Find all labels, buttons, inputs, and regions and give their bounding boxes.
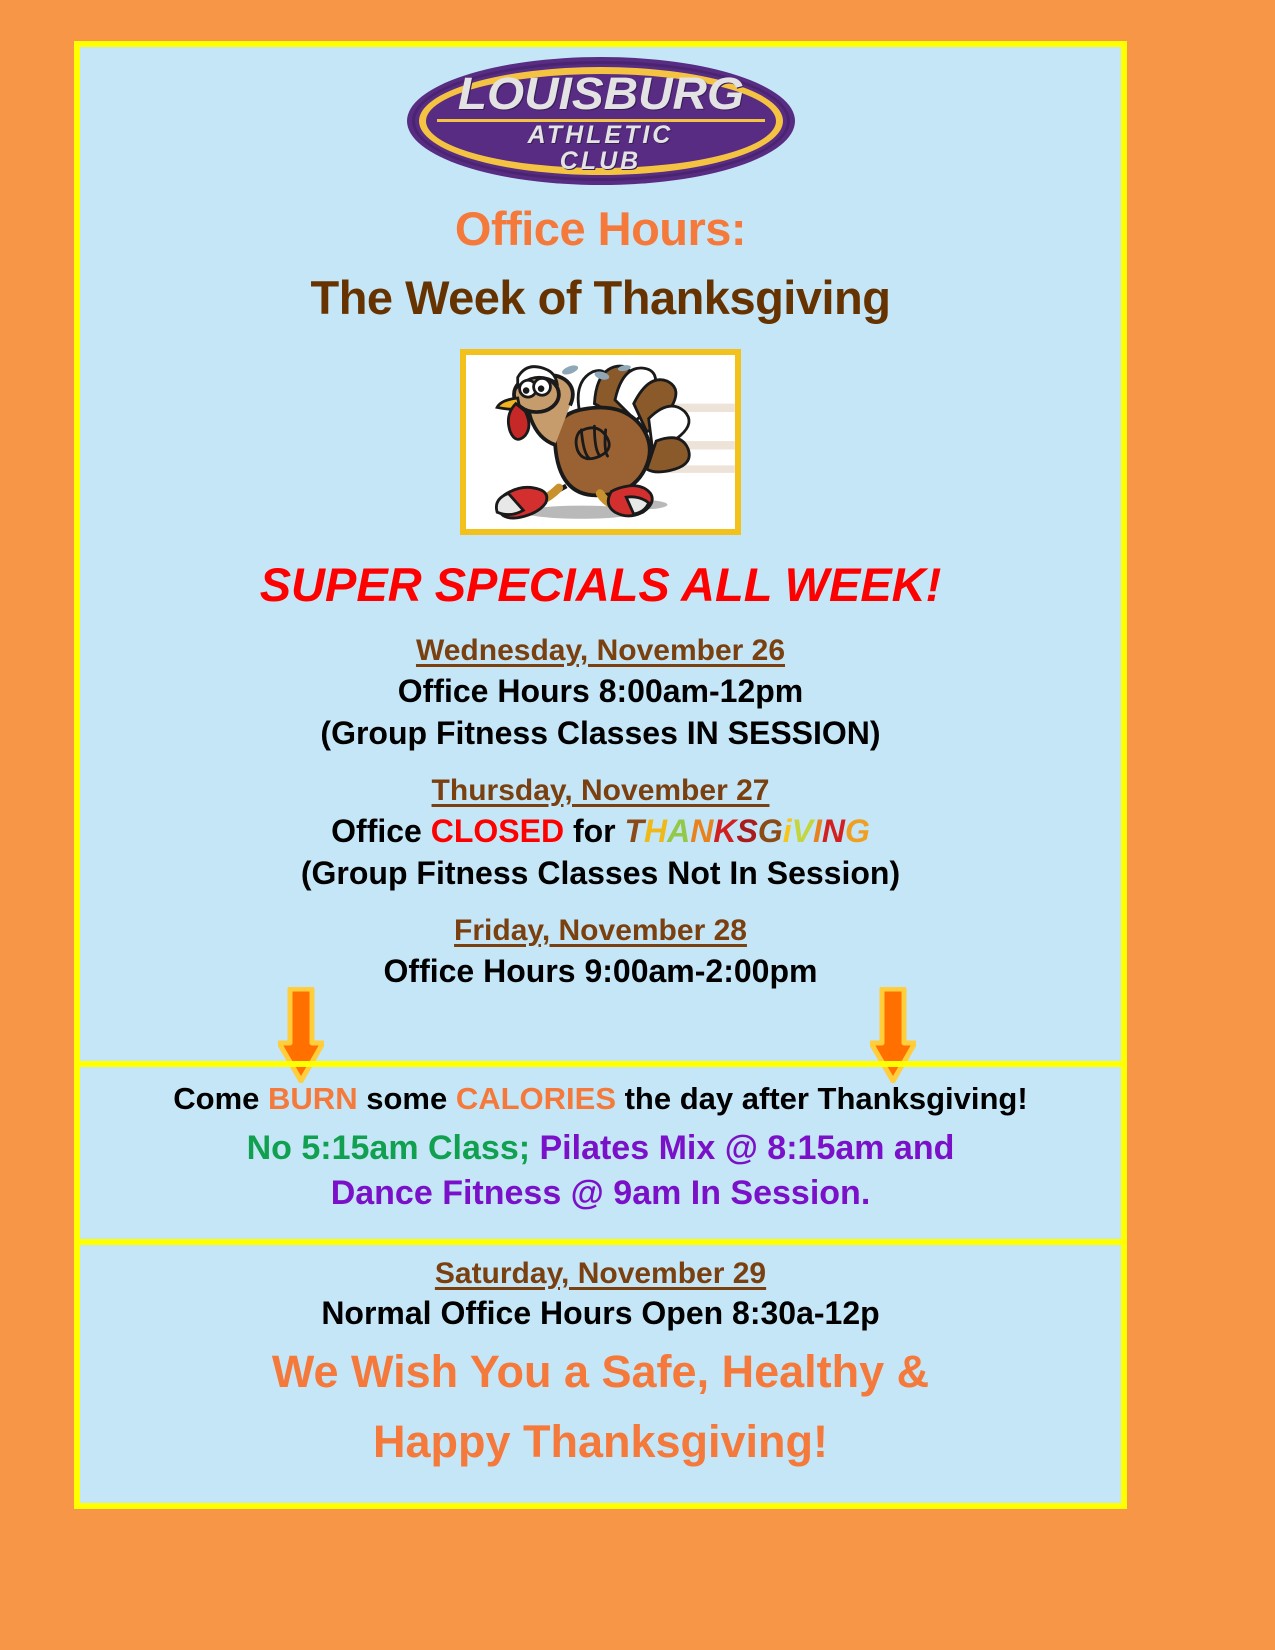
tg-letter-10: I (813, 813, 822, 849)
flyer-poster: LOUISBURG ATHLETIC CLUB Office Hours: Th… (74, 41, 1127, 1509)
poster-bottom-content: Saturday, November 29 Normal Office Hour… (80, 1257, 1121, 1468)
poster-top-content: LOUISBURG ATHLETIC CLUB Office Hours: Th… (80, 47, 1121, 990)
band-text-some: some (358, 1081, 456, 1116)
page-subtitle-week-of-thanksgiving: The Week of Thanksgiving (80, 270, 1121, 325)
louisburg-athletic-club-logo: LOUISBURG ATHLETIC CLUB (407, 57, 795, 185)
wednesday-office-hours: Office Hours 8:00am-12pm (80, 673, 1121, 710)
wednesday-classes-note: (Group Fitness Classes IN SESSION) (80, 715, 1121, 752)
closing-message-line-2: Happy Thanksgiving! (80, 1416, 1121, 1468)
page-title-office-hours: Office Hours: (80, 201, 1121, 256)
logo-text-athletic: ATHLETIC (528, 122, 674, 148)
tg-letter-7: G (758, 813, 783, 849)
tg-letter-12: G (845, 813, 870, 849)
friday-office-hours: Office Hours 9:00am-2:00pm (80, 953, 1121, 990)
thanksgiving-rainbow-word: THANKSGiVING (625, 813, 870, 849)
tg-letter-3: A (667, 813, 690, 849)
thursday-closed-word: CLOSED (431, 813, 564, 849)
logo-container: LOUISBURG ATHLETIC CLUB (80, 47, 1121, 195)
band-text-tail: the day after Thanksgiving! (616, 1081, 1028, 1116)
day-heading-saturday: Saturday, November 29 (80, 1257, 1121, 1291)
no-515am-class-text: No 5:15am Class; (247, 1129, 530, 1167)
band-text-come: Come (173, 1081, 268, 1116)
tg-letter-2: H (644, 813, 667, 849)
tg-letter-8: i (783, 813, 792, 849)
band-text-burn: BURN (268, 1081, 358, 1116)
thursday-office-word: Office (331, 813, 431, 849)
dance-fitness-text: Dance Fitness @ 9am In Session. (331, 1174, 871, 1212)
band-text-calories: CALORIES (456, 1081, 616, 1116)
running-turkey-cartoon (466, 355, 735, 529)
pilates-mix-text: Pilates Mix @ 8:15am and (530, 1129, 954, 1167)
friday-specials-band: Come BURN some CALORIES the day after Th… (74, 1061, 1127, 1245)
class-schedule-line-1: No 5:15am Class; Pilates Mix @ 8:15am an… (74, 1129, 1127, 1168)
day-heading-wednesday: Wednesday, November 26 (80, 634, 1121, 668)
logo-text-louisburg: LOUISBURG (457, 73, 743, 116)
tg-letter-9: V (792, 813, 813, 849)
super-specials-banner: SUPER SPECIALS ALL WEEK! (80, 557, 1121, 612)
saturday-office-hours: Normal Office Hours Open 8:30a-12p (80, 1295, 1121, 1332)
closing-message-line-1: We Wish You a Safe, Healthy & (80, 1346, 1121, 1398)
tg-letter-6: S (736, 813, 757, 849)
burn-calories-line: Come BURN some CALORIES the day after Th… (74, 1081, 1127, 1117)
running-turkey-image-frame (460, 349, 741, 535)
class-schedule-line-2: Dance Fitness @ 9am In Session. (74, 1174, 1127, 1213)
tg-letter-1: T (625, 813, 645, 849)
tg-letter-4: N (690, 813, 713, 849)
tg-letter-5: K (713, 813, 736, 849)
logo-text-club: CLUB (560, 148, 641, 174)
thursday-classes-note: (Group Fitness Classes Not In Session) (80, 855, 1121, 892)
thursday-for-word: for (564, 813, 624, 849)
day-heading-thursday: Thursday, November 27 (80, 774, 1121, 808)
thursday-closed-line: Office CLOSED for THANKSGiVING (80, 813, 1121, 850)
tg-letter-11: N (822, 813, 845, 849)
day-heading-friday: Friday, November 28 (80, 914, 1121, 948)
